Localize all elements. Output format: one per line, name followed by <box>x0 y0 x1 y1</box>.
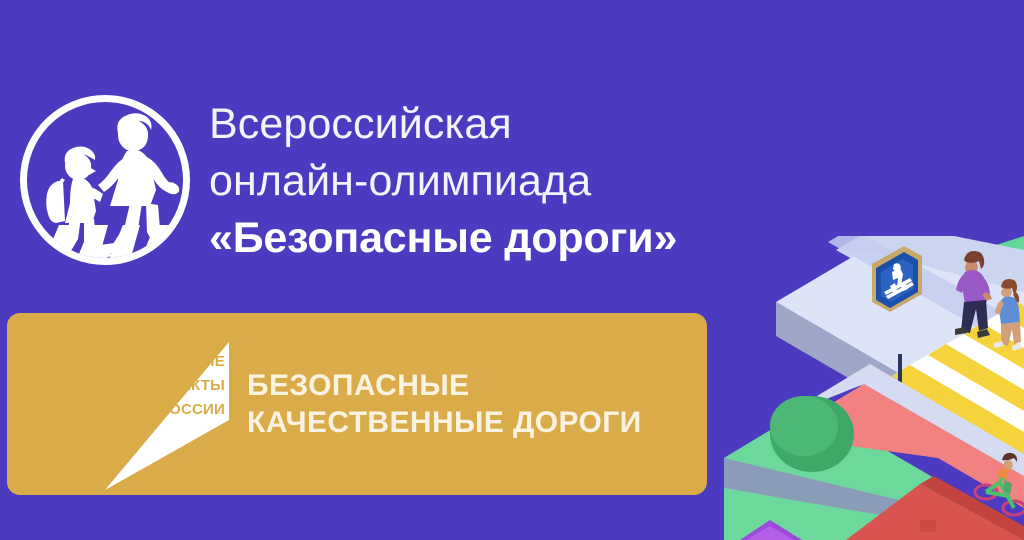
banner-headline: БЕЗОПАСНЫЕ КАЧЕСТВЕННЫЕ ДОРОГИ <box>247 367 642 441</box>
banner-headline-line-1: БЕЗОПАСНЫЕ <box>247 367 642 404</box>
title-line-2: онлайн-олимпиада <box>209 153 769 210</box>
page-title: Всероссийская онлайн-олимпиада «Безопасн… <box>209 96 769 267</box>
np-line-3: РОССИИ <box>159 401 225 418</box>
np-line-2: ПРОЕКТЫ <box>148 377 225 394</box>
title-line-3: «Безопасные дороги» <box>209 210 769 267</box>
promo-banner: Всероссийская онлайн-олимпиада «Безопасн… <box>0 0 1024 540</box>
isometric-street-illustration <box>724 236 1024 540</box>
national-projects-flag-icon: НАЦИОНАЛЬНЫЕ ПРОЕКТЫ РОССИИ <box>89 368 229 440</box>
banner-headline-line-2: КАЧЕСТВЕННЫЕ ДОРОГИ <box>247 404 642 441</box>
np-line-1: НАЦИОНАЛЬНЫЕ <box>89 353 225 370</box>
tree <box>770 396 854 472</box>
pedestrian-crossing-circle-icon <box>18 93 192 267</box>
title-line-1: Всероссийская <box>209 96 769 153</box>
national-project-banner[interactable]: НАЦИОНАЛЬНЫЕ ПРОЕКТЫ РОССИИ БЕЗОПАСНЫЕ К… <box>7 313 707 495</box>
